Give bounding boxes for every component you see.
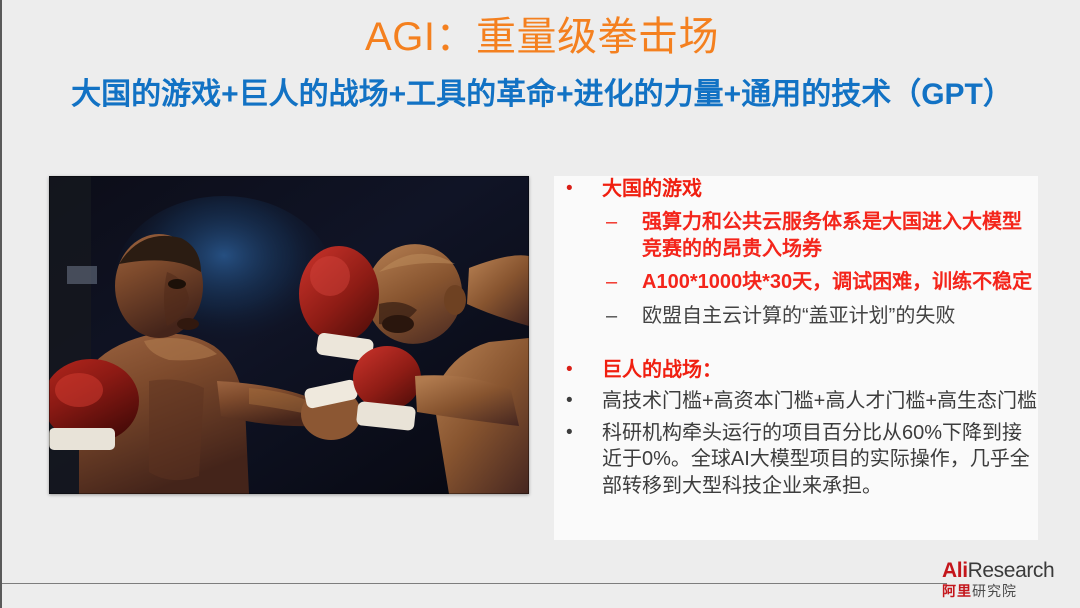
boxing-photo — [49, 176, 529, 494]
list-item-1-3: – 欧盟自主云计算的“盖亚计划”的失败 — [606, 303, 1038, 329]
group-heading: 巨人的战场： — [602, 357, 1038, 383]
group-heading: 大国的游戏 — [602, 176, 1038, 202]
list-item-text: 高技术门槛+高资本门槛+高人才门槛+高生态门槛 — [602, 388, 1038, 414]
alibaba-research-logo: AliResearch 阿里研究院 — [942, 560, 1066, 598]
list-item-text: A100*1000块*30天，调试困难，训练不稳定 — [642, 269, 1038, 295]
list-item-1-2: – A100*1000块*30天，调试困难，训练不稳定 — [606, 269, 1038, 295]
section-spacer — [554, 329, 1038, 357]
bullet-list: • 大国的游戏 – 强算力和公共云服务体系是大国进入大模型竞赛的的昂贵入场券 –… — [554, 176, 1038, 499]
logo-cn-gray-text: 研究院 — [972, 583, 1017, 599]
list-item-heading-2: • 巨人的战场： — [564, 357, 1038, 383]
bullet-marker: • — [564, 420, 602, 445]
logo-wordmark: AliResearch — [942, 560, 1066, 581]
bullet-marker: • — [564, 176, 602, 201]
page-title: AGI：重量级拳击场 — [2, 14, 1080, 60]
dash-marker: – — [606, 209, 642, 235]
list-item-text: 科研机构牵头运行的项目百分比从60%下降到接近于0%。全球AI大模型项目的实际操… — [602, 420, 1038, 499]
content-panel: • 大国的游戏 – 强算力和公共云服务体系是大国进入大模型竞赛的的昂贵入场券 –… — [554, 176, 1038, 540]
list-item-1-1: – 强算力和公共云服务体系是大国进入大模型竞赛的的昂贵入场券 — [606, 209, 1038, 262]
slide-canvas: AGI：重量级拳击场 大国的游戏+巨人的战场+工具的革命+进化的力量+通用的技术… — [0, 0, 1080, 608]
bullet-marker: • — [564, 357, 602, 382]
bullet-marker: • — [564, 388, 602, 413]
list-item-2-1: • 高技术门槛+高资本门槛+高人才门槛+高生态门槛 — [564, 388, 1038, 414]
list-item-2-2: • 科研机构牵头运行的项目百分比从60%下降到接近于0%。全球AI大模型项目的实… — [564, 420, 1038, 499]
list-item-text: 强算力和公共云服务体系是大国进入大模型竞赛的的昂贵入场券 — [642, 209, 1038, 262]
logo-cn-red-text: 阿里 — [942, 583, 972, 599]
dash-marker: – — [606, 303, 642, 329]
logo-research-text: Research — [968, 559, 1055, 582]
logo-chinese-wordmark: 阿里研究院 — [942, 584, 1066, 598]
footer-divider — [2, 583, 947, 584]
boxing-photo-illustration — [49, 176, 529, 494]
page-subtitle: 大国的游戏+巨人的战场+工具的革命+进化的力量+通用的技术（GPT） — [2, 77, 1080, 113]
list-item-heading-1: • 大国的游戏 — [564, 176, 1038, 202]
list-item-text: 欧盟自主云计算的“盖亚计划”的失败 — [642, 303, 1038, 329]
logo-ali-text: Ali — [942, 559, 968, 582]
dash-marker: – — [606, 269, 642, 295]
